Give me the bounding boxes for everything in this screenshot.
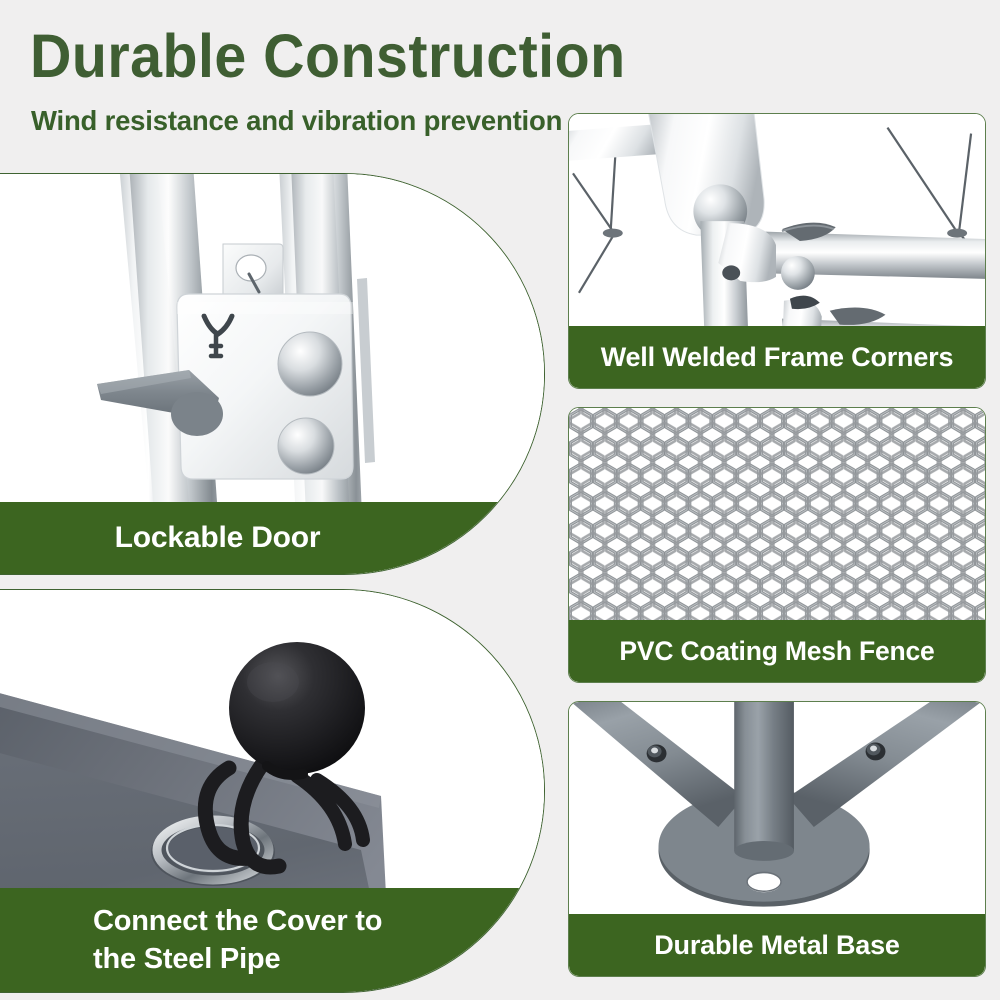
panel-connect-cover-label-line2: the Steel Pipe bbox=[93, 943, 280, 975]
panel-connect-cover-label-line1: Connect the Cover to bbox=[93, 905, 382, 937]
panel-mesh-fence-label: PVC Coating Mesh Fence bbox=[619, 636, 934, 667]
panel-lockable-door-label-bar: Lockable Door bbox=[0, 502, 544, 574]
panel-connect-cover-label: Connect the Cover to the Steel Pipe bbox=[93, 902, 382, 978]
panel-lockable-door-label: Lockable Door bbox=[115, 521, 321, 555]
infographic-page: Durable Construction Wind resistance and… bbox=[0, 0, 1000, 1000]
panel-lockable-door[interactable]: Lockable Door bbox=[0, 173, 545, 575]
panel-frame-corners[interactable]: Well Welded Frame Corners bbox=[568, 113, 986, 389]
panel-metal-base-label: Durable Metal Base bbox=[654, 930, 900, 961]
page-title: Durable Construction bbox=[30, 22, 626, 90]
panel-frame-corners-label-bar: Well Welded Frame Corners bbox=[569, 326, 985, 388]
panel-mesh-fence[interactable]: PVC Coating Mesh Fence bbox=[568, 407, 986, 683]
panel-frame-corners-label: Well Welded Frame Corners bbox=[601, 342, 954, 373]
panel-mesh-fence-label-bar: PVC Coating Mesh Fence bbox=[569, 620, 985, 682]
panel-connect-cover[interactable]: Connect the Cover to the Steel Pipe bbox=[0, 589, 545, 993]
page-subtitle: Wind resistance and vibration prevention bbox=[31, 104, 562, 138]
panel-metal-base-label-bar: Durable Metal Base bbox=[569, 914, 985, 976]
panel-connect-cover-label-bar: Connect the Cover to the Steel Pipe bbox=[0, 888, 544, 992]
panel-metal-base[interactable]: Durable Metal Base bbox=[568, 701, 986, 977]
